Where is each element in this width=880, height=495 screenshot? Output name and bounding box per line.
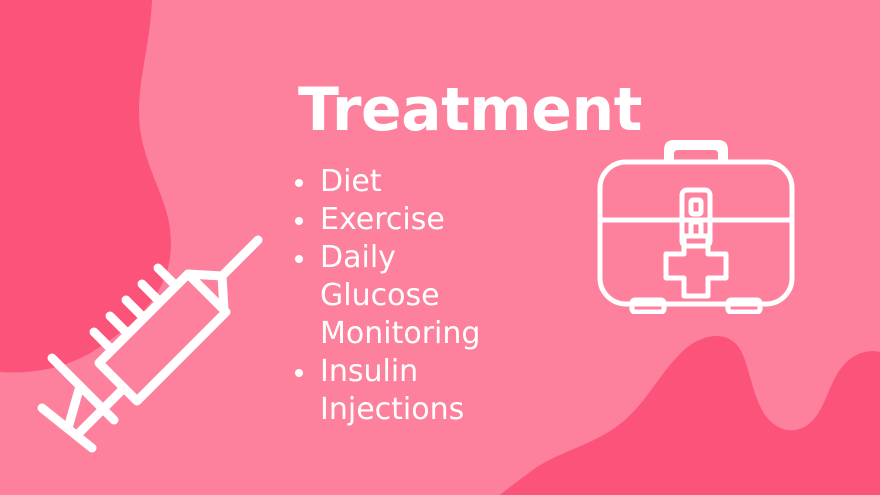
list-item: Insulin Injections (292, 353, 524, 429)
syringe-icon (36, 232, 282, 458)
treatment-bullet-list: Diet Exercise Daily Glucose Monitoring I… (292, 163, 524, 429)
list-item: Daily Glucose Monitoring (292, 239, 524, 353)
list-item: Diet (292, 163, 524, 201)
slide-content: Treatment Diet Exercise Daily Glucose Mo… (0, 0, 880, 495)
first-aid-kit-icon (592, 128, 800, 314)
slide-treatment: Treatment Diet Exercise Daily Glucose Mo… (0, 0, 880, 495)
list-item: Exercise (292, 201, 524, 239)
